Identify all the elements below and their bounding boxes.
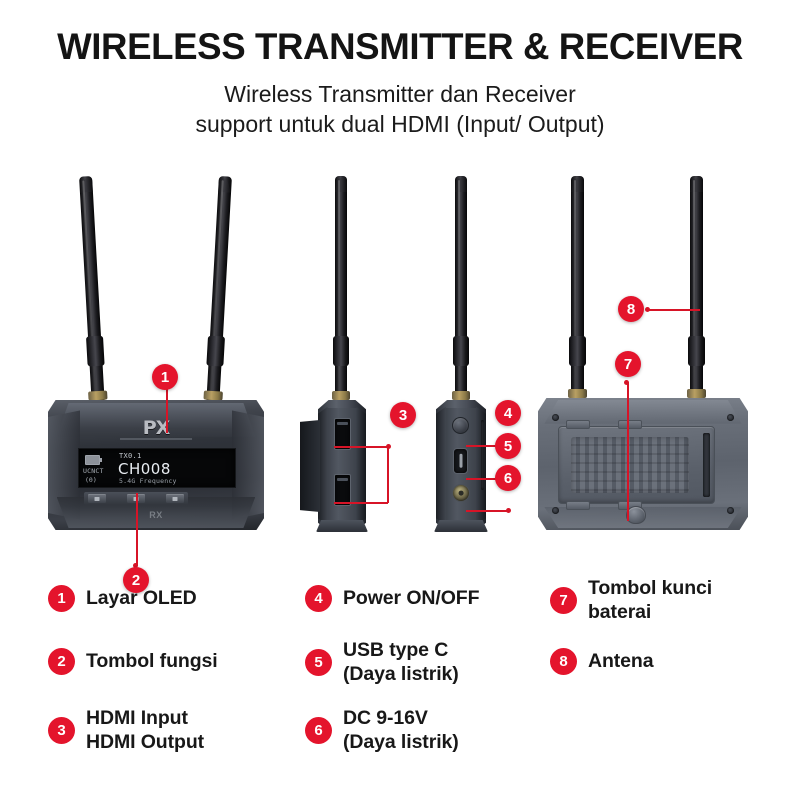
power-side-body (436, 400, 486, 532)
screw-bottom-right (727, 507, 734, 514)
legend-badge-8: 8 (550, 648, 577, 675)
leader-line-6 (466, 510, 510, 512)
legend-label-5-line1: USB type C (343, 639, 448, 661)
adjacent-body-edge (300, 420, 320, 512)
legend-item-4[interactable]: 4 Power ON/OFF (305, 585, 479, 612)
leader-line-2 (136, 493, 138, 566)
marker-5[interactable]: 5 (495, 433, 521, 459)
marker-7[interactable]: 7 (615, 351, 641, 377)
receiver-body: PX UCNCT (0) TX0.1 CH008 5.4G Frequency (48, 400, 264, 530)
legend-label-8: Antena (588, 648, 654, 673)
legend-label-4-line1: Power ON/OFF (343, 587, 479, 609)
product-infographic: WIRELESS TRANSMITTER & RECEIVER Wireless… (0, 0, 800, 800)
marker-1[interactable]: 1 (152, 364, 178, 390)
antenna-rear-right (690, 176, 703, 404)
leader-line-3a (334, 446, 388, 448)
hdmi-side-body (318, 400, 366, 532)
battery-rail-slot (703, 433, 710, 497)
legend-item-3[interactable]: 3 HDMI Input HDMI Output (48, 705, 204, 754)
legend-item-2[interactable]: 2 Tombol fungsi (48, 648, 218, 675)
legend-badge-2: 2 (48, 648, 75, 675)
legend-label-6-line2: (Daya listrik) (343, 730, 459, 754)
oled-screen: UCNCT (0) TX0.1 CH008 5.4G Frequency (78, 448, 236, 488)
device-side-power: 4 5 6 (420, 168, 540, 568)
leader-dot-6 (506, 508, 511, 513)
device-side-hdmi: 3 (300, 168, 420, 568)
legend-label-5-line2: (Daya listrik) (343, 662, 459, 686)
legend-label-3-line2: HDMI Output (86, 730, 204, 754)
leader-dot-3 (386, 444, 391, 449)
legend-label-4: Power ON/OFF (343, 585, 479, 610)
legend-badge-6: 6 (305, 717, 332, 744)
legend-item-1[interactable]: 1 Layar OLED (48, 585, 197, 612)
device-rear-view: 8 7 (530, 168, 780, 568)
legend-label-7: Tombol kunci baterai (588, 575, 712, 624)
marker-2[interactable]: 2 (123, 567, 149, 593)
power-side-foot (434, 520, 488, 532)
page-title: WIRELESS TRANSMITTER & RECEIVER (4, 28, 796, 67)
marker-3[interactable]: 3 (390, 402, 416, 428)
fn-button-left[interactable] (88, 494, 106, 503)
legend-item-6[interactable]: 6 DC 9-16V (Daya listrik) (305, 705, 459, 754)
rear-housing (538, 398, 748, 530)
screw-top-left (552, 414, 559, 421)
usb-type-c-port[interactable] (453, 448, 468, 474)
leader-dot-8 (645, 307, 650, 312)
legend-label-8-line1: Antena (588, 650, 654, 672)
screw-top-right (727, 414, 734, 421)
marker-8[interactable]: 8 (618, 296, 644, 322)
leader-line-3c (387, 446, 389, 503)
brand-logo-px: PX (48, 417, 264, 439)
legend-label-3: HDMI Input HDMI Output (86, 705, 204, 754)
rail-tab-bl (566, 501, 590, 510)
legend-column-2: 4 Power ON/OFF 5 USB type C (Daya listri… (305, 575, 555, 765)
antenna-power-side (455, 176, 467, 406)
battery-icon (85, 455, 100, 465)
legend-label-6: DC 9-16V (Daya listrik) (343, 705, 459, 754)
leader-line-3b (334, 502, 388, 504)
oled-frequency-value: 5.4G Frequency (119, 477, 177, 485)
subtitle-line-2: support untuk dual HDMI (Input/ Output) (0, 109, 800, 139)
oled-channel-value: CH008 (118, 460, 171, 478)
legend-label-7-line1: Tombol kunci (588, 577, 712, 599)
product-images-stage: PX UCNCT (0) TX0.1 CH008 5.4G Frequency (0, 168, 800, 568)
leader-dot-7 (624, 380, 629, 385)
antenna-rear-left (571, 176, 584, 404)
legend-column-3: 7 Tombol kunci baterai 8 Antena (550, 575, 800, 765)
screw-bottom-left (552, 507, 559, 514)
rail-tab-tm (618, 420, 642, 429)
device-front-view: PX UCNCT (0) TX0.1 CH008 5.4G Frequency (40, 168, 280, 568)
legend-column-1: 1 Layar OLED 2 Tombol fungsi 3 HDMI Inpu… (48, 575, 298, 765)
marker-4[interactable]: 4 (495, 400, 521, 426)
battery-lock-button[interactable] (626, 506, 646, 524)
legend-block: 1 Layar OLED 2 Tombol fungsi 3 HDMI Inpu… (0, 575, 800, 775)
legend-badge-3: 3 (48, 717, 75, 744)
subtitle-line-1: Wireless Transmitter dan Receiver (0, 79, 800, 109)
marker-6[interactable]: 6 (495, 465, 521, 491)
legend-badge-4: 4 (305, 585, 332, 612)
power-button[interactable] (452, 417, 469, 434)
legend-label-3-line1: HDMI Input (86, 707, 188, 729)
header-block: WIRELESS TRANSMITTER & RECEIVER Wireless… (0, 28, 800, 140)
model-mark-rx: RX (48, 510, 264, 520)
legend-badge-7: 7 (550, 587, 577, 614)
oled-label-lo: (0) (85, 476, 97, 484)
battery-mount-plate (558, 426, 715, 504)
legend-item-7[interactable]: 7 Tombol kunci baterai (550, 575, 712, 624)
antenna-right (206, 176, 232, 408)
page-subtitle: Wireless Transmitter dan Receiver suppor… (0, 67, 800, 140)
legend-badge-1: 1 (48, 585, 75, 612)
legend-label-7-line2: baterai (588, 600, 712, 624)
oled-label-uc: UCNCT (83, 467, 104, 475)
legend-badge-5: 5 (305, 649, 332, 676)
legend-label-2-line1: Tombol fungsi (86, 650, 218, 672)
leader-line-7 (627, 382, 629, 521)
antenna-left (79, 176, 105, 408)
leader-line-8 (648, 309, 700, 311)
fn-button-right[interactable] (166, 494, 184, 503)
oled-label-tx: TX0.1 (119, 452, 142, 460)
legend-item-5[interactable]: 5 USB type C (Daya listrik) (305, 637, 459, 686)
rail-tab-tl (566, 420, 590, 429)
antenna-hdmi-side (335, 176, 347, 406)
legend-label-6-line1: DC 9-16V (343, 707, 428, 729)
legend-label-2: Tombol fungsi (86, 648, 218, 673)
legend-label-5: USB type C (Daya listrik) (343, 637, 459, 686)
hdmi-side-foot (316, 520, 368, 532)
dc-power-port[interactable] (452, 484, 470, 502)
legend-item-8[interactable]: 8 Antena (550, 648, 654, 675)
